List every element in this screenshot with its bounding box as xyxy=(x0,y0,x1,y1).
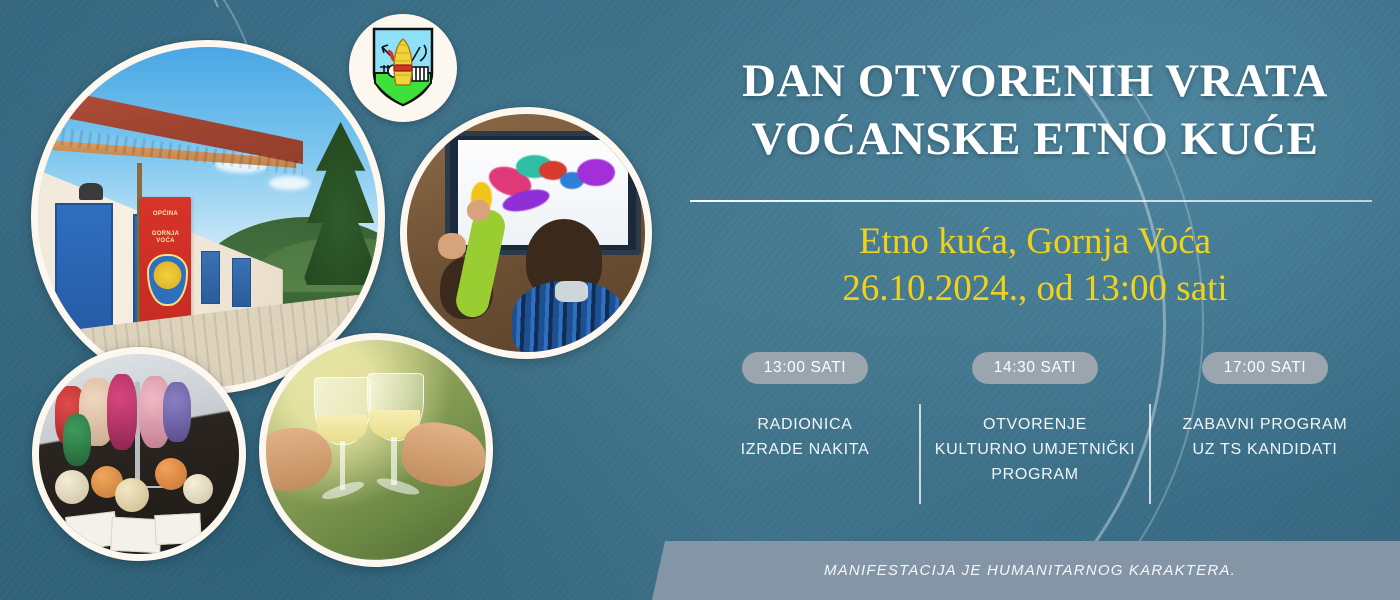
drawing-blob xyxy=(577,159,615,186)
schedule-time-badge-2: 14:30 SATI xyxy=(972,352,1098,384)
child-collar xyxy=(555,281,588,302)
cloud-icon xyxy=(269,176,310,190)
schedule-desc-1-line2: IZRADE NAKITA xyxy=(741,437,870,462)
schedule-desc-2: OTVORENJE KULTURNO UMJETNIČKI PROGRAM xyxy=(935,412,1136,487)
event-venue: Etno kuća, Gornja Voća xyxy=(690,218,1380,265)
schedule-time-badge-3: 17:00 SATI xyxy=(1202,352,1328,384)
schedule-list: 13:00 SATI RADIONICA IZRADE NAKITA 14:30… xyxy=(690,352,1380,512)
child-hand-flat xyxy=(438,233,467,259)
schedule-desc-3: ZABAVNI PROGRAM UZ TS KANDIDATI xyxy=(1183,412,1348,462)
felt-ball xyxy=(55,470,89,504)
schedule-desc-2-line3: PROGRAM xyxy=(935,462,1136,487)
title-divider xyxy=(690,200,1372,202)
schedule-time-badge-1: 13:00 SATI xyxy=(742,352,868,384)
banner-text-line1: OPĆINA xyxy=(144,211,187,218)
schedule-desc-1-line1: RADIONICA xyxy=(741,412,870,437)
schedule-divider-1 xyxy=(919,404,921,504)
schedule-item-2: 14:30 SATI OTVORENJE KULTURNO UMJETNIČKI… xyxy=(920,352,1150,512)
felt-ball xyxy=(183,474,213,504)
banner-emblem-icon xyxy=(147,254,188,307)
schedule-desc-2-line1: OTVORENJE xyxy=(935,412,1136,437)
coat-of-arms-icon xyxy=(372,27,434,107)
house-window-2 xyxy=(232,258,251,308)
wall-lamp-icon xyxy=(79,183,103,200)
photo-children-whiteboard xyxy=(400,107,652,359)
wine-glass-stem-right xyxy=(391,437,397,485)
schedule-item-1: 13:00 SATI RADIONICA IZRADE NAKITA xyxy=(690,352,920,512)
felt-ball xyxy=(155,458,187,490)
photo-handmade-jewelry xyxy=(32,347,246,561)
bead-necklace xyxy=(163,382,191,442)
house-window-1 xyxy=(201,251,220,304)
footer-note: MANIFESTACIJA JE HUMANITARNOG KARAKTERA. xyxy=(660,541,1400,600)
schedule-desc-1: RADIONICA IZRADE NAKITA xyxy=(741,412,870,462)
schedule-divider-2 xyxy=(1149,404,1151,504)
photo-wine-toast xyxy=(259,333,493,567)
bead-necklace xyxy=(107,374,137,450)
poster-canvas: OPĆINA GORNJA VOĆA xyxy=(0,0,1400,600)
schedule-desc-2-line2: KULTURNO UMJETNIČKI xyxy=(935,437,1136,462)
title-line-1: DAN OTVORENIH VRATA xyxy=(690,52,1380,110)
bead-necklace xyxy=(63,414,91,466)
brochure xyxy=(154,513,202,545)
title-line-2: VOĆANSKE ETNO KUĆE xyxy=(690,110,1380,168)
child-hand-pointing xyxy=(467,200,491,221)
event-datetime: 26.10.2024., od 13:00 sati xyxy=(690,265,1380,312)
schedule-item-3: 17:00 SATI ZABAVNI PROGRAM UZ TS KANDIDA… xyxy=(1150,352,1380,512)
event-details: Etno kuća, Gornja Voća 26.10.2024., od 1… xyxy=(690,218,1380,312)
page-title: DAN OTVORENIH VRATA VOĆANSKE ETNO KUĆE xyxy=(690,52,1380,168)
schedule-desc-3-line1: ZABAVNI PROGRAM xyxy=(1183,412,1348,437)
schedule-desc-3-line2: UZ TS KANDIDATI xyxy=(1183,437,1348,462)
wine-glass-stem-left xyxy=(340,441,346,489)
felt-ball xyxy=(115,478,149,512)
banner-text-line2: GORNJA VOĆA xyxy=(144,231,187,245)
